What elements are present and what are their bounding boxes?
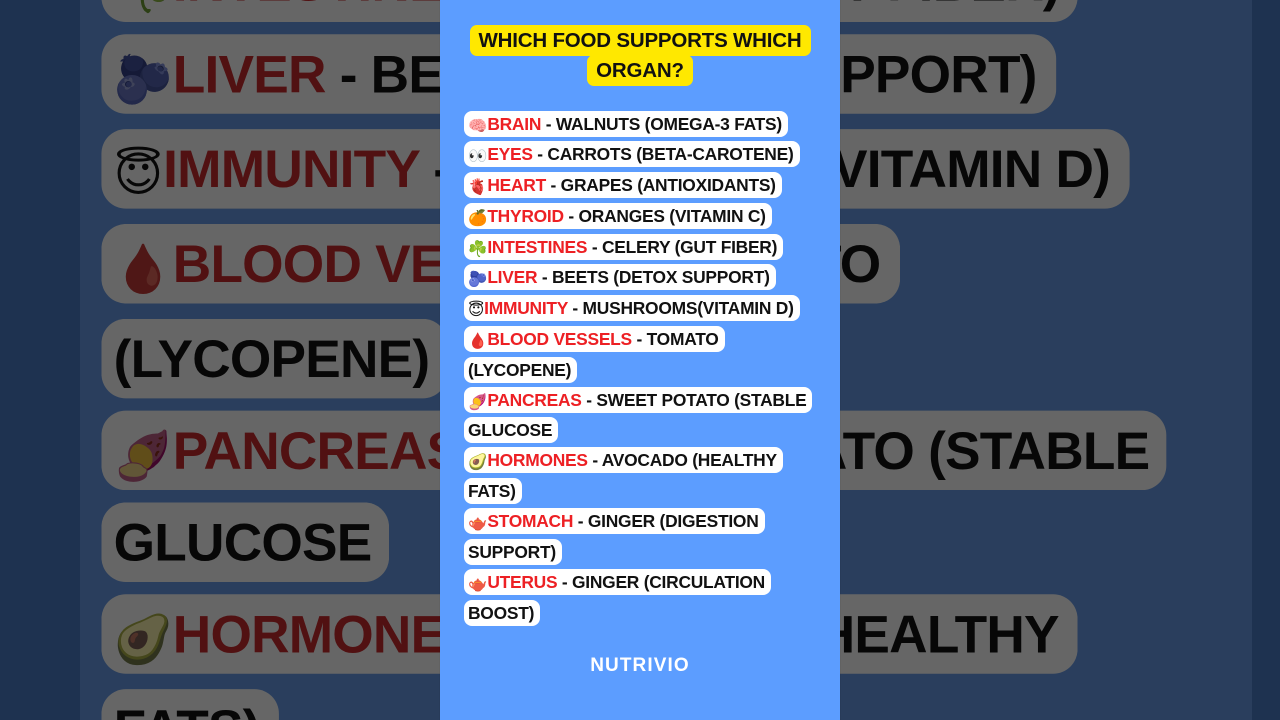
organ-label: LIVER xyxy=(487,267,537,287)
foreground-card-container: WHICH FOOD SUPPORTS WHICH ORGAN? 🧠BRAIN … xyxy=(440,0,840,720)
organ-detail: - BEETS (DETOX SUPPORT) xyxy=(537,267,769,287)
organ-label: INTESTINES xyxy=(173,0,479,12)
eyes-icon: 👀 xyxy=(468,147,487,165)
blood-drop-icon: 🩸 xyxy=(114,242,173,297)
organ-label: PANCREAS xyxy=(487,390,581,410)
left-letterbox-strip xyxy=(0,0,80,720)
organ-detail: - WALNUTS (OMEGA-3 FATS) xyxy=(541,114,782,134)
list-item: 🍊THYROID - ORANGES (VITAMIN C) xyxy=(464,203,772,229)
blood-drop-icon: 🩸 xyxy=(468,332,487,350)
organ-label: BLOOD VESSELS xyxy=(487,329,632,349)
organ-label: UTERUS xyxy=(487,572,557,592)
organ-label: IMMUNITY xyxy=(163,138,419,199)
list-item: 👀EYES - CARROTS (BETA-CAROTENE) xyxy=(464,141,800,167)
list-item: 🫖STOMACH - GINGER (DIGESTION SUPPORT) xyxy=(464,508,765,565)
ginger-root-icon: 🫖 xyxy=(468,514,487,532)
title-container: WHICH FOOD SUPPORTS WHICH ORGAN? xyxy=(440,0,840,87)
organ-label: IMMUNITY xyxy=(484,298,568,318)
tangerine-icon: 🍊 xyxy=(468,209,487,227)
organ-label: HEART xyxy=(487,175,546,195)
ginger-root-icon-2: 🫖 xyxy=(468,575,487,593)
organ-label: STOMACH xyxy=(487,511,573,531)
organ-label: HORMONES xyxy=(173,604,480,665)
heart-organ-icon: 🫀 xyxy=(468,178,487,196)
organ-label: EYES xyxy=(487,144,532,164)
organ-label: LIVER xyxy=(173,44,326,105)
beet-icon: 🫐 xyxy=(114,54,173,109)
brain-icon: 🧠 xyxy=(468,117,487,135)
organ-label: THYROID xyxy=(487,206,564,226)
list-item: 🍠PANCREAS - SWEET POTATO (STABLE GLUCOSE xyxy=(464,387,812,444)
halo-face-icon: 😇 xyxy=(114,148,163,203)
list-item: 🫀HEART - GRAPES (ANTIOXIDANTS) xyxy=(464,172,782,198)
organ-label: INTESTINES xyxy=(487,237,587,257)
shamrock-icon: ☘️ xyxy=(114,0,173,15)
organ-detail: - CELERY (GUT FIBER) xyxy=(587,237,777,257)
list-item: 🩸BLOOD VESSELS - TOMATO (LYCOPENE) xyxy=(464,326,725,383)
avocado-icon: 🥑 xyxy=(114,613,173,668)
organ-detail: - GRAPES (ANTIOXIDANTS) xyxy=(546,175,776,195)
organ-detail: - CARROTS (BETA-CAROTENE) xyxy=(533,144,794,164)
entry-list: 🧠BRAIN - WALNUTS (OMEGA-3 FATS)👀EYES - C… xyxy=(464,109,816,628)
screenshot-root: WHICH FOOD SUPPORTS WHICH ORGAN? 🧠BRAIN … xyxy=(0,0,1280,720)
brand-name: NUTRIVIO xyxy=(440,655,840,677)
list-item: 😇IMMUNITY - MUSHROOMS(VITAMIN D) xyxy=(464,295,800,321)
avocado-icon: 🥑 xyxy=(468,453,487,471)
organ-detail: - MUSHROOMS(VITAMIN D) xyxy=(568,298,794,318)
content-card: WHICH FOOD SUPPORTS WHICH ORGAN? 🧠BRAIN … xyxy=(440,0,840,720)
sweet-potato-icon: 🍠 xyxy=(468,393,487,411)
list-item: 🫖UTERUS - GINGER (CIRCULATION BOOST) xyxy=(464,569,771,626)
page-title: WHICH FOOD SUPPORTS WHICH ORGAN? xyxy=(470,25,811,86)
beet-icon: 🫐 xyxy=(468,270,487,288)
organ-label: BRAIN xyxy=(487,114,541,134)
list-item: ☘️INTESTINES - CELERY (GUT FIBER) xyxy=(464,234,783,260)
organ-label: PANCREAS xyxy=(173,418,462,479)
entry-list-container: 🧠BRAIN - WALNUTS (OMEGA-3 FATS)👀EYES - C… xyxy=(440,109,840,628)
organ-label: HORMONES xyxy=(487,450,587,470)
shamrock-icon: ☘️ xyxy=(468,240,487,258)
list-item: 🫐LIVER - BEETS (DETOX SUPPORT) xyxy=(464,264,776,290)
list-item: 🥑HORMONES - AVOCADO (HEALTHY FATS) xyxy=(464,447,783,504)
halo-face-icon: 😇 xyxy=(468,301,484,319)
organ-detail: - ORANGES (VITAMIN C) xyxy=(564,206,766,226)
sweet-potato-icon: 🍠 xyxy=(114,428,173,483)
list-item: 🧠BRAIN - WALNUTS (OMEGA-3 FATS) xyxy=(464,111,788,137)
